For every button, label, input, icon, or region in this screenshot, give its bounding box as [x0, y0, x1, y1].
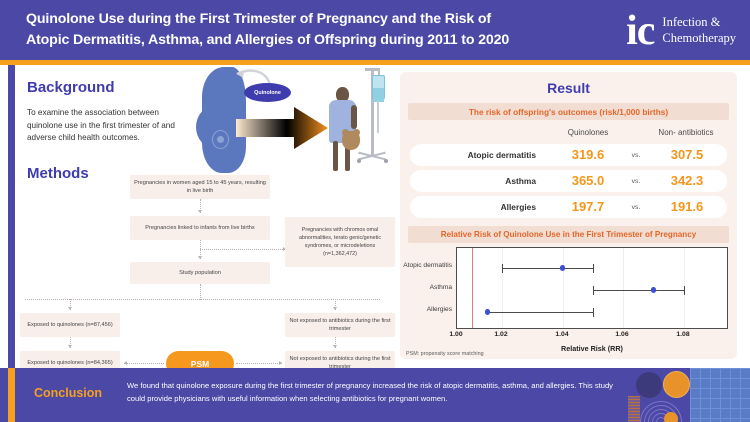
deco-circle-dark-icon: [636, 372, 662, 398]
quinolone-pill-label: Quinolone: [244, 83, 291, 102]
background-heading: Background: [27, 79, 115, 96]
chart-xtick-1: 1.00: [441, 331, 471, 338]
row-value-allergies-non-antibiotics: 191.6: [643, 199, 731, 214]
ci-line-atopic-dermatitis: [502, 268, 593, 269]
chart-footnote: PSM: propensity score matching: [406, 351, 484, 357]
journal-name-line1: Infection &: [662, 15, 736, 31]
chart-xtick-4: 1.06: [607, 331, 637, 338]
left-accent-bar: [8, 65, 15, 368]
iv-bag-fluid: [373, 88, 384, 102]
flow-box-study-population: Study population: [130, 262, 270, 284]
flow-arrow-2: [198, 256, 202, 259]
conclusion-heading: Conclusion: [34, 386, 102, 400]
deco-grid-icon: [690, 368, 750, 422]
ci-cap-high-atopic-dermatitis: [593, 264, 594, 273]
chart-ytick-asthma: Asthma: [400, 284, 452, 291]
chart-xtick-2: 1.02: [486, 331, 516, 338]
flow-arrow-right: [333, 307, 337, 310]
row-value-atopic-quinolones: 319.6: [546, 147, 630, 162]
row-label-allergies: Allergies: [418, 202, 536, 212]
poster-root: Quinolone Use during the First Trimester…: [0, 0, 750, 422]
iv-bag: [372, 75, 385, 101]
chart-ytick-allergies: Allergies: [400, 306, 452, 313]
deco-circle-orange-icon: [663, 371, 690, 398]
chart-reference-line: [472, 248, 473, 328]
flow-connector-exclude: [200, 249, 285, 250]
gridline-1.04: [563, 248, 564, 328]
page-title: Quinolone Use during the First Trimester…: [26, 9, 586, 50]
ci-point-asthma: [651, 287, 656, 292]
ci-cap-low-asthma: [593, 286, 594, 295]
ci-cap-low-atopic-dermatitis: [502, 264, 503, 273]
flow-box-unexposed-1: Not exposed to antibiotics during the fi…: [285, 313, 395, 337]
flow-box-linked: Pregnancies linked to infants from live …: [130, 216, 270, 240]
row-label-asthma: Asthma: [418, 176, 536, 186]
deco-rings-icon: [634, 398, 688, 422]
background-text: To examine the association between quino…: [27, 107, 192, 145]
iv-wheel-left: [357, 159, 361, 163]
flow-arrow-left: [68, 307, 72, 310]
ci-cap-high-allergies: [593, 308, 594, 317]
ci-line-asthma: [593, 290, 684, 291]
result-table-caption: The risk of offspring's outcomes (risk/1…: [408, 103, 729, 120]
gridline-1.06: [623, 248, 624, 328]
psm-line-left: [124, 363, 164, 364]
row-value-allergies-quinolones: 197.7: [546, 199, 630, 214]
column-header-quinolones: Quinolones: [546, 128, 630, 137]
conclusion-text: We found that quinolone exposure during …: [127, 379, 632, 406]
result-panel: Result The risk of offspring's outcomes …: [400, 72, 737, 359]
row-value-atopic-non-antibiotics: 307.5: [643, 147, 731, 162]
psm-line-right: [236, 363, 282, 364]
flow-arrow-right-2: [333, 345, 337, 348]
ci-line-allergies: [487, 312, 593, 313]
flow-connector-3: [200, 284, 201, 300]
column-header-non-antibiotics: Non- antibiotics: [640, 128, 732, 137]
flow-box-cohort: Pregnancies in women aged 15 to 45 years…: [130, 175, 270, 199]
chart-xtick-3: 1.04: [547, 331, 577, 338]
journal-name: Infection & Chemotherapy: [662, 15, 736, 46]
flow-box-excluded: Pregnancies with chromos omal abnormalit…: [285, 217, 395, 267]
methods-flowchart: Pregnancies in women aged 15 to 45 years…: [20, 175, 395, 365]
child-leg-left: [333, 141, 338, 171]
journal-name-line2: Chemotherapy: [662, 31, 736, 47]
iv-wheel-right: [384, 159, 388, 163]
poster-body: Background To examine the association be…: [0, 65, 750, 368]
conclusion-section: Conclusion We found that quinolone expos…: [0, 368, 750, 422]
forest-plot: [456, 247, 728, 329]
flow-arrow-left-2: [68, 345, 72, 348]
chart-xtick-5: 1.08: [668, 331, 698, 338]
row-value-asthma-quinolones: 365.0: [546, 173, 630, 188]
journal-logo: ic Infection & Chemotherapy: [626, 8, 736, 54]
result-heading: Result: [400, 80, 737, 96]
chart-ytick-atopic-dermatitis: Atopic dermatitis: [400, 262, 452, 269]
conclusion-accent-bar: [8, 368, 15, 422]
decorative-pattern: [628, 368, 750, 422]
fetus-dot-icon: [217, 136, 224, 143]
psm-arrow-left: [124, 361, 127, 365]
gridline-1.02: [502, 248, 503, 328]
right-arrow-icon: [236, 107, 328, 149]
page-title-line2: Atopic Dermatitis, Asthma, and Allergies…: [26, 30, 586, 51]
iv-tube: [377, 101, 379, 133]
psm-arrow-right: [279, 361, 282, 365]
poster-header: Quinolone Use during the First Trimester…: [0, 0, 750, 60]
study-illustration: Quinolone: [196, 67, 396, 177]
row-label-atopic-dermatitis: Atopic dermatitis: [418, 150, 536, 160]
flow-arrow-1: [198, 210, 202, 213]
flow-box-exposed-1: Exposed to quinolones (n=87,456): [20, 313, 120, 337]
flow-split-line: [25, 299, 380, 300]
deco-circle-small-icon: [664, 412, 678, 422]
ci-point-allergies: [485, 309, 490, 314]
chart-xlabel: Relative Risk (RR): [456, 344, 728, 353]
ci-point-atopic-dermatitis: [560, 265, 565, 270]
chart-title: Relative Risk of Quinolone Use in the Fi…: [408, 226, 729, 243]
ci-cap-high-asthma: [684, 286, 685, 295]
page-title-line1: Quinolone Use during the First Trimester…: [26, 9, 586, 30]
ic-logo-mark: ic: [626, 10, 654, 52]
iv-drip-icon: [356, 67, 390, 169]
row-value-asthma-non-antibiotics: 342.3: [643, 173, 731, 188]
